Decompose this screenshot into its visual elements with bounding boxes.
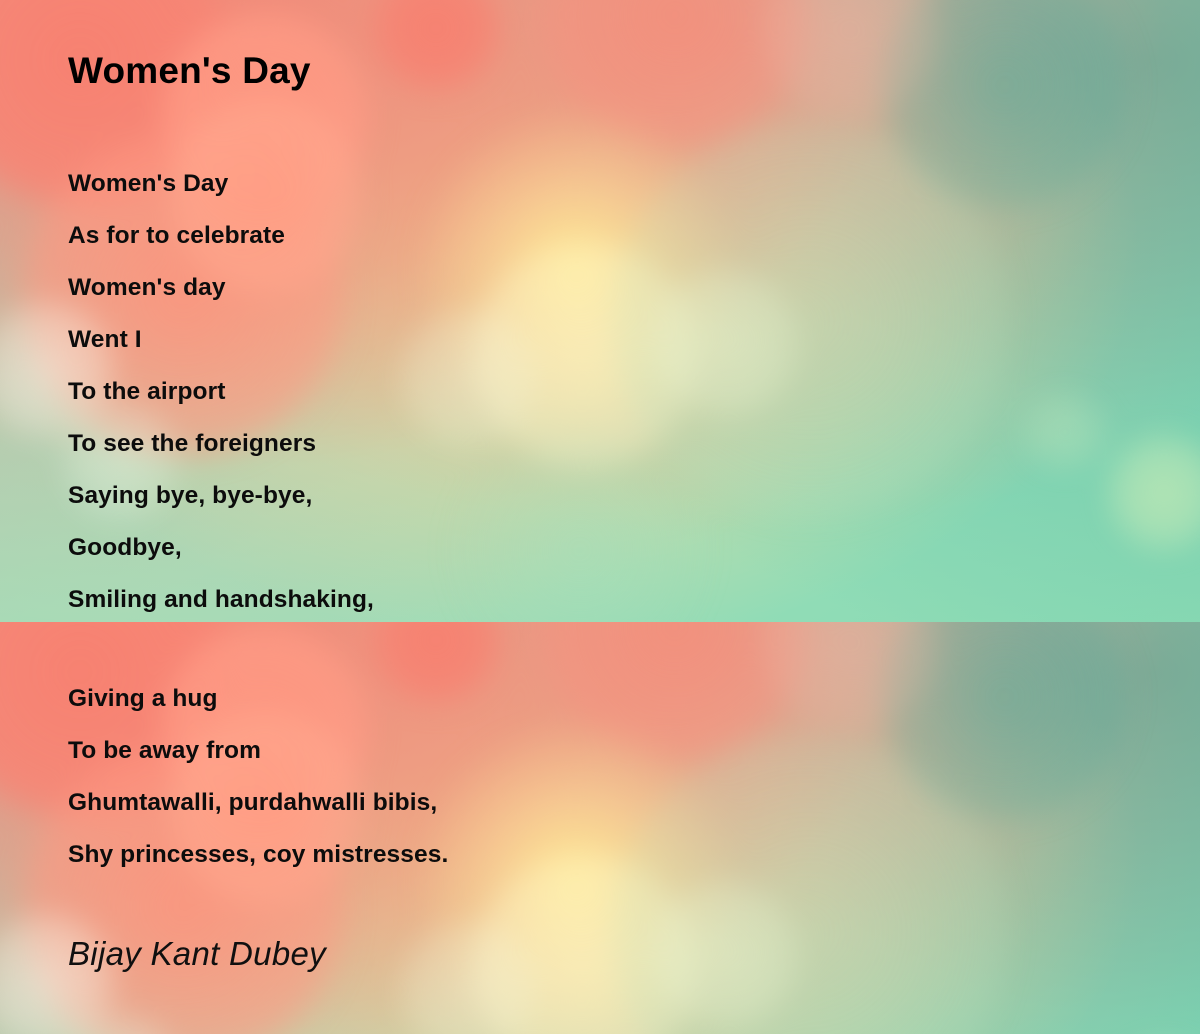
poem-card: Women's Day Women's Day As for to celebr… — [0, 0, 1200, 1034]
poem-stanza: Giving a hug To be away from Ghumtawalli… — [68, 673, 448, 881]
poem-line: To see the foreigners — [68, 418, 374, 470]
poem-line: To the airport — [68, 366, 374, 418]
poem-line: Shy princesses, coy mistresses. — [68, 829, 448, 881]
poem-line: Saying bye, bye-bye, — [68, 470, 374, 522]
poem-line: As for to celebrate — [68, 210, 374, 262]
poem-text-content: Women's Day Women's Day As for to celebr… — [0, 0, 1200, 1034]
poem-line: Women's Day — [68, 158, 374, 210]
poem-line: Women's day — [68, 262, 374, 314]
poem-line: Smiling and handshaking, — [68, 574, 374, 626]
poem-line: To be away from — [68, 725, 448, 777]
poem-line: Goodbye, — [68, 522, 374, 574]
page-title: Women's Day — [68, 50, 311, 92]
poem-stanza: Women's Day As for to celebrate Women's … — [68, 158, 374, 626]
poem-line: Went I — [68, 314, 374, 366]
poem-line: Giving a hug — [68, 673, 448, 725]
poem-line: Ghumtawalli, purdahwalli bibis, — [68, 777, 448, 829]
poem-author: Bijay Kant Dubey — [68, 935, 326, 973]
